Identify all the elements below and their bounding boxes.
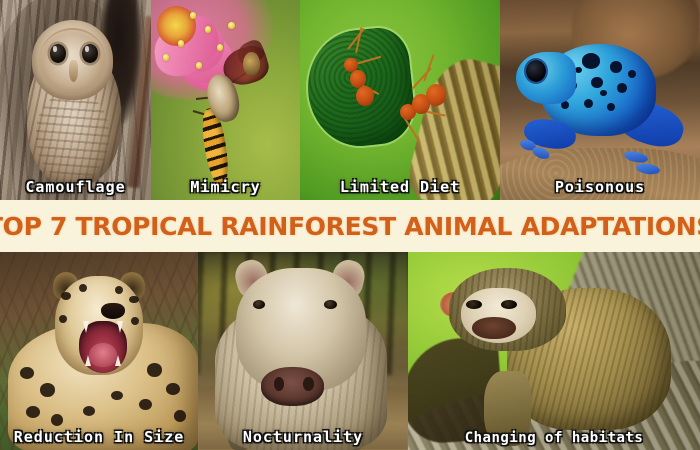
boar-scene-image xyxy=(198,252,408,450)
caption-changing-of-habitats: Changing of habitats xyxy=(408,430,700,446)
ant-abdomen xyxy=(426,84,446,106)
hoverfly-head xyxy=(243,52,259,76)
page-title: TOP 7 TROPICAL RAINFOREST ANIMAL ADAPTAT… xyxy=(0,212,700,241)
stamen xyxy=(178,40,185,47)
owl-breast-streaks xyxy=(36,92,108,180)
caption-nocturnality: Nocturnality xyxy=(198,428,408,446)
jaguar-fang xyxy=(83,321,89,333)
panel-changing-of-habitats[interactable]: Changing of habitats xyxy=(408,252,700,450)
frog-eye xyxy=(526,60,546,82)
panel-reduction-in-size[interactable]: Reduction In Size xyxy=(0,252,198,450)
ant-abdomen xyxy=(356,86,374,106)
owl-eye-right xyxy=(82,44,99,63)
stamen xyxy=(190,12,197,19)
jaguar-fang xyxy=(115,355,121,366)
owl-beak xyxy=(69,60,78,82)
stamen xyxy=(196,62,203,69)
caption-camouflage: Camouflage xyxy=(0,178,151,196)
boar-nostril-left xyxy=(274,377,285,391)
monkey-muzzle xyxy=(472,317,516,339)
caption-mimicry: Mimicry xyxy=(151,178,300,196)
owl-eye-highlight-right xyxy=(85,46,90,51)
panel-poisonous[interactable]: Poisonous xyxy=(500,0,700,200)
boar-snout xyxy=(261,367,324,407)
jaguar-scene-image xyxy=(0,252,198,450)
bottom-row: Reduction In Size Nocturnality xyxy=(0,252,700,450)
panel-mimicry[interactable]: Mimicry xyxy=(151,0,300,200)
boar-nostril-right xyxy=(303,377,314,391)
stamen xyxy=(217,44,224,51)
hoverfly-scene-image xyxy=(151,0,300,200)
panel-limited-diet[interactable]: Limited Diet xyxy=(300,0,500,200)
owl-eye-highlight-left xyxy=(53,46,58,51)
title-banner: TOP 7 TROPICAL RAINFOREST ANIMAL ADAPTAT… xyxy=(0,200,700,252)
jaguar-fang xyxy=(117,321,123,333)
jaguar-fang xyxy=(85,355,91,366)
panel-nocturnality[interactable]: Nocturnality xyxy=(198,252,408,450)
ants-scene-image xyxy=(300,0,500,200)
stamen xyxy=(205,26,212,33)
owl-scene-image xyxy=(0,0,151,200)
frog-scene-image xyxy=(500,0,700,200)
top-row: Camouflage xyxy=(0,0,700,200)
panel-camouflage[interactable]: Camouflage xyxy=(0,0,151,200)
caption-poisonous: Poisonous xyxy=(500,178,700,196)
jaguar-tongue xyxy=(89,343,117,367)
frog-head xyxy=(516,52,576,104)
caption-limited-diet: Limited Diet xyxy=(300,178,500,196)
stamen xyxy=(228,22,235,29)
boar-eye-right xyxy=(324,300,337,310)
infographic-poster: Camouflage xyxy=(0,0,700,450)
monkey-scene-image xyxy=(408,252,700,450)
caption-reduction-in-size: Reduction In Size xyxy=(0,428,198,446)
